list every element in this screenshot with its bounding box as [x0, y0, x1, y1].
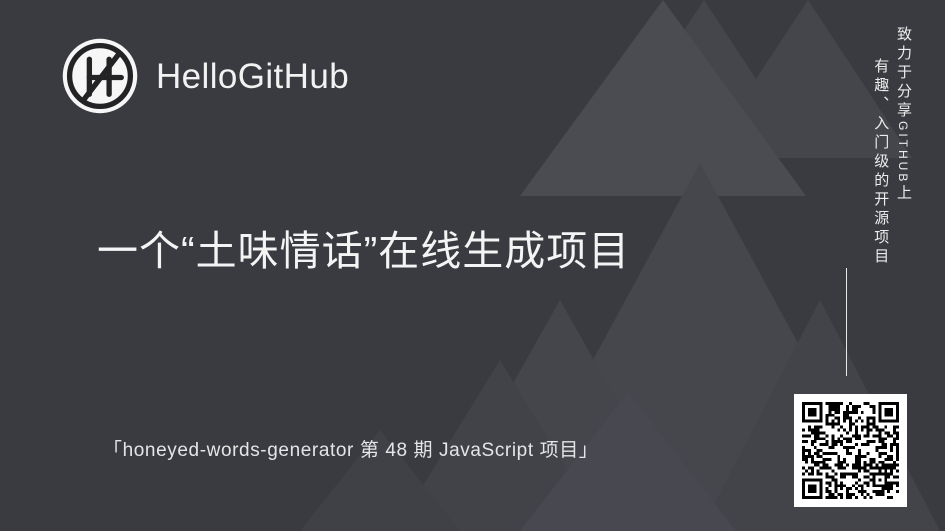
- slogan-primary-latin: GITHUB: [896, 121, 910, 184]
- slogan-divider-rule: [846, 268, 847, 376]
- mountain-shape-2: [520, 0, 806, 196]
- slide-root: HelloGitHub 一个“土味情话”在线生成项目 「honeyed-word…: [0, 0, 945, 531]
- brand-lockup: HelloGitHub: [62, 38, 349, 114]
- page-title: 一个“土味情话”在线生成项目: [97, 228, 630, 275]
- slogan-primary-prefix: 致力于分享: [895, 26, 912, 121]
- hellogithub-hg-monogram-icon: [62, 38, 138, 114]
- brand-name: HelloGitHub: [156, 59, 349, 94]
- project-caption: 「honeyed-words-generator 第 48 期 JavaScri…: [103, 440, 598, 463]
- qr-code-card[interactable]: [794, 394, 907, 507]
- mountain-shape-0: [600, 0, 808, 158]
- mountain-shape-5: [430, 300, 690, 531]
- slogan-line-secondary: 有趣、入门级的开源项目: [873, 58, 889, 267]
- slogan-primary-suffix: 上: [895, 184, 912, 203]
- qr-code-image: [802, 402, 899, 499]
- vertical-slogan: 有趣、入门级的开源项目 致力于分享GITHUB上: [873, 26, 912, 267]
- slogan-line-primary: 致力于分享GITHUB上: [895, 26, 911, 203]
